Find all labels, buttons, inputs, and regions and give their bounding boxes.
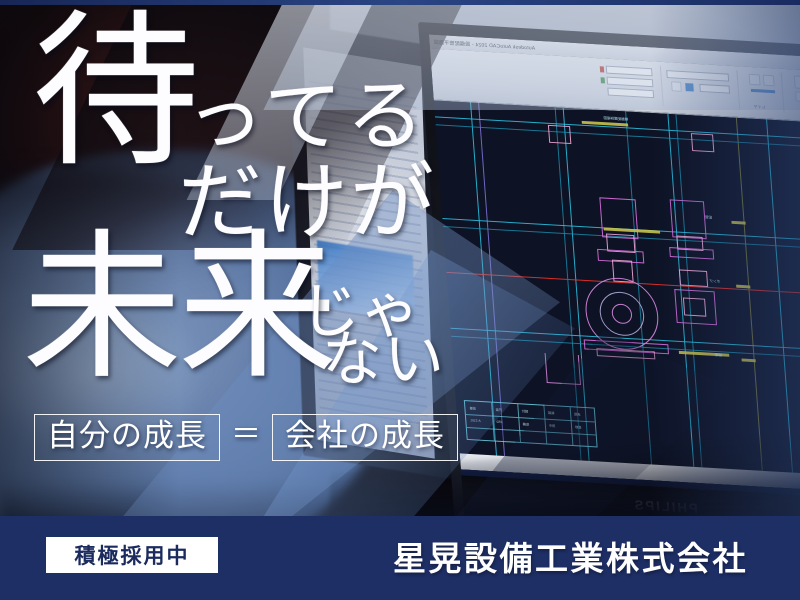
headline-line-4: 未来 (22, 228, 334, 388)
recruitment-banner: Autodesk AutoCAD 2024 - 設備配管平面図 ホーム (0, 0, 800, 600)
footer-bar: 積極採用中 星晃設備工業株式会社 (0, 516, 800, 600)
tagline-equals: ＝ (231, 420, 261, 454)
tagline-group: 自分の成長 ＝ 会社の成長 (34, 414, 458, 461)
headline-line-6: ない (322, 330, 446, 390)
recruiting-badge: 積極採用中 (46, 537, 218, 573)
headline-line-1: 待 (32, 8, 198, 176)
headline-line-2: ってる (186, 78, 428, 156)
tagline-box-right: 会社の成長 (272, 414, 458, 461)
company-name: 星晃設備工業株式会社 (393, 532, 748, 580)
top-border-strip-inner (0, 0, 800, 5)
tagline-box-left: 自分の成長 (34, 414, 220, 461)
headline-copy: 待 ってる だけが 未来 じゃ ない (0, 0, 800, 600)
